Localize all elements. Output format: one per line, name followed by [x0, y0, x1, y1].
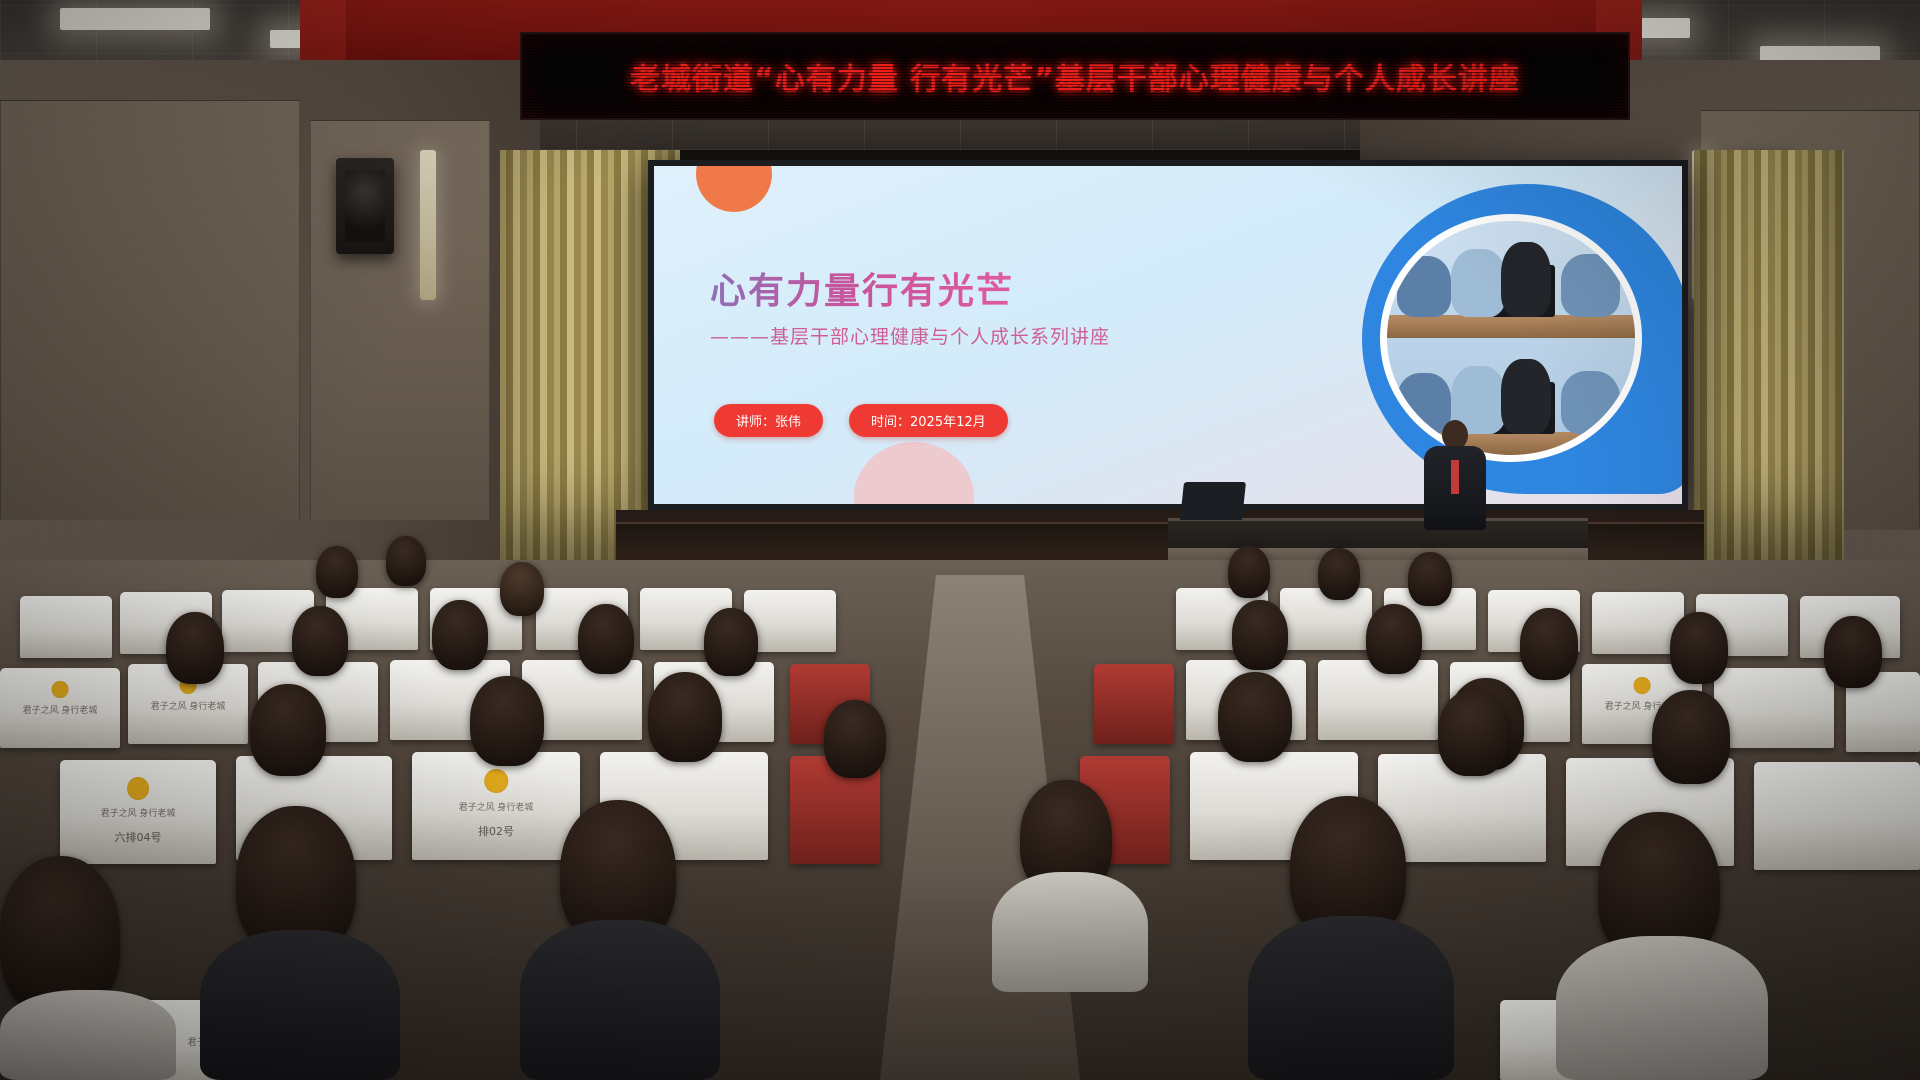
- photo-person: [1561, 371, 1621, 434]
- audience-head: [292, 606, 348, 676]
- audience-head: [1318, 548, 1360, 600]
- seat: [1094, 664, 1174, 744]
- slide-title: 心有力量行有光芒: [710, 262, 1014, 314]
- audience-head: [166, 612, 224, 684]
- audience-head: [432, 600, 488, 670]
- seat-label: 君子之风 身行老城: [60, 806, 216, 819]
- audience-head: [1670, 612, 1728, 684]
- presenter-tie: [1451, 460, 1459, 494]
- wall-speaker-left: [336, 158, 394, 254]
- audience-head: [1408, 552, 1452, 606]
- seat-label: 君子之风 身行老城: [128, 699, 248, 712]
- seat-crest: [52, 681, 69, 699]
- audience-head: [704, 608, 758, 676]
- seat: [20, 596, 112, 658]
- photo-person: [1501, 242, 1551, 317]
- presenter: [1424, 420, 1486, 528]
- seat-label: 君子之风 身行老城: [412, 800, 580, 813]
- stage-curtain-right: [1694, 150, 1844, 580]
- audience-head: [1228, 546, 1270, 598]
- photo-desk: [1387, 315, 1635, 338]
- seat: 君子之风 身行老城: [0, 668, 120, 748]
- audience-head: [1218, 672, 1292, 762]
- audience-head: [1652, 690, 1730, 784]
- slide-photo-oval: [1380, 214, 1642, 462]
- projection-screen: 心有力量行有光芒 ———基层干部心理健康与个人成长系列讲座 讲师：张伟 时间：2…: [648, 160, 1688, 510]
- slide-badge-group: 讲师：张伟 时间：2025年12月: [714, 404, 1008, 437]
- seat-crest: [484, 769, 508, 793]
- lower-third: 老城街道：开展基层干部心理健康与个人成长专题讲座 肥城新闻 FCTV NEWS: [0, 840, 1920, 1080]
- led-banner-text: 老城街道“心有力量 行有光芒”基层干部心理健康与个人成长讲座: [630, 54, 1520, 98]
- audience-head: [316, 546, 358, 598]
- seat-number: 排02号: [412, 823, 580, 839]
- seat-label: 君子之风 身行老城: [0, 703, 120, 716]
- audience-head: [1824, 616, 1882, 688]
- slide-badge-date: 时间：2025年12月: [849, 404, 1008, 437]
- broadcast-frame: 老城街道“心有力量 行有光芒”基层干部心理健康与个人成长讲座 心有力量行有光芒 …: [0, 0, 1920, 1080]
- slide-decor-pink-circle: [854, 442, 974, 504]
- slide-teardrop-shape: [1362, 184, 1682, 494]
- slide-subtitle: ———基层干部心理健康与个人成长系列讲座: [710, 322, 1130, 352]
- presentation-slide: 心有力量行有光芒 ———基层干部心理健康与个人成长系列讲座 讲师：张伟 时间：2…: [654, 166, 1682, 504]
- wall-lamp: [420, 150, 436, 300]
- photo-person: [1451, 249, 1506, 317]
- audience-head: [1232, 600, 1288, 670]
- ceiling-light: [60, 8, 210, 30]
- slide-photo-row: [1387, 221, 1635, 338]
- audience-head: [1366, 604, 1422, 674]
- led-banner: 老城街道“心有力量 行有光芒”基层干部心理健康与个人成长讲座: [520, 32, 1630, 120]
- audience-head: [500, 562, 544, 616]
- wall-panel: [0, 100, 300, 520]
- audience-head: [824, 700, 886, 778]
- seat: [1714, 668, 1834, 748]
- audience-head: [648, 672, 722, 762]
- audience-head: [250, 684, 326, 776]
- audience-head: [578, 604, 634, 674]
- photo-person: [1561, 254, 1621, 317]
- laptop: [1180, 482, 1246, 520]
- photo-person: [1501, 359, 1551, 434]
- audience-head: [386, 536, 426, 586]
- seat-crest: [127, 777, 149, 800]
- audience-head: [1520, 608, 1578, 680]
- seat-crest: [1634, 677, 1651, 695]
- audience-head: [1438, 690, 1508, 776]
- slide-badge-lecturer: 讲师：张伟: [714, 404, 823, 437]
- seat: [1318, 660, 1438, 740]
- photo-person: [1397, 256, 1452, 317]
- slide-decor-orange-circle: [696, 166, 772, 212]
- audience-head: [470, 676, 544, 766]
